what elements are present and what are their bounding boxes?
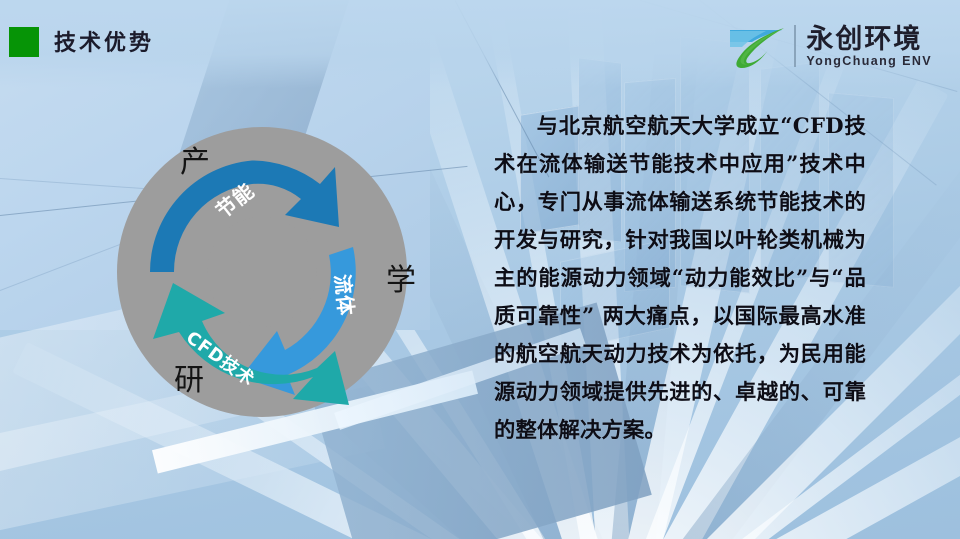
body-paragraph: 与北京航空航天大学成立“CFD技术在流体输送节能技术中应用”技术中心，专门从事流… [494,108,866,450]
logo-divider [794,25,796,67]
cycle-inner-hub [207,217,317,327]
arrow-label-fluid: 流体 [330,273,358,317]
cycle-outer-label-xue: 学 [386,266,416,296]
page-title: 技术优势 [54,29,154,57]
logo-leaf-icon [726,22,788,70]
company-logo: 永创环境 YongChuang ENV [726,20,932,72]
cycle-outer-label-yan: 研 [174,366,204,396]
presentation-slide: 技术优势 永创环境 YongChuang ENV [0,0,960,539]
green-square-marker-icon [9,27,39,57]
cycle-outer-label-chan: 产 [180,148,210,178]
logo-english-name: YongChuang ENV [806,54,932,68]
logo-chinese-name: 永创环境 [806,25,932,54]
cycle-diagram: 节能 流体 CFD技术 [117,127,407,417]
